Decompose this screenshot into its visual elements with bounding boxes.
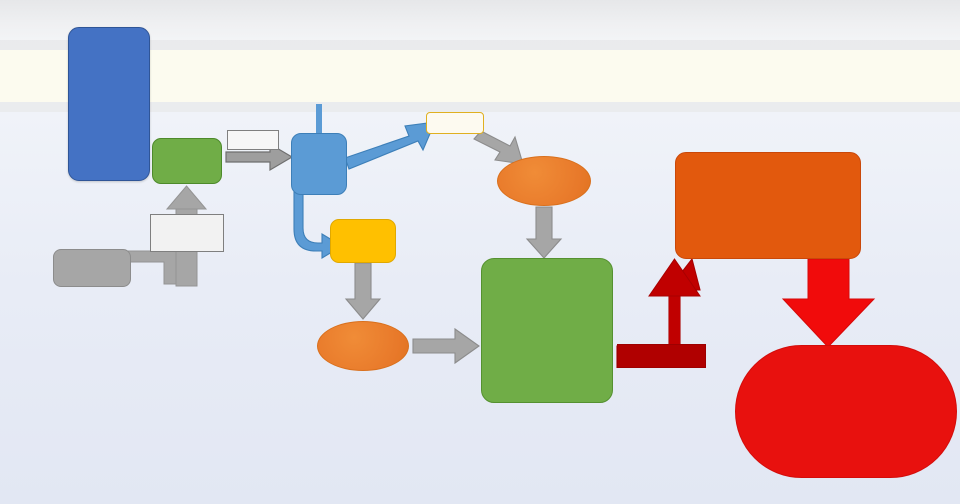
calcium-to-outcomes-arrow	[413, 329, 479, 363]
pathway-diagram-canvas	[0, 0, 960, 504]
node-regulatory-factors[interactable]	[150, 214, 224, 252]
node-pkc[interactable]	[497, 156, 591, 206]
dag-to-pkc-arrow	[474, 131, 523, 164]
node-rtk-complex[interactable]	[68, 27, 150, 181]
node-cellular-outcomes[interactable]	[481, 258, 613, 403]
node-tumor-growth-and-cancer[interactable]	[735, 345, 957, 478]
node-pik3[interactable]	[53, 249, 131, 287]
ip3-to-calcium-arrow	[346, 263, 380, 319]
pip2-to-dag-arrow	[345, 122, 435, 169]
label-mutations	[617, 344, 706, 368]
node-dag[interactable]	[426, 112, 484, 134]
label-cleaves	[227, 130, 279, 150]
node-pip2[interactable]	[291, 133, 347, 195]
upregulated-to-tumor-arrow	[783, 259, 874, 347]
node-upregulated-phenotypes[interactable]	[675, 152, 861, 259]
node-plcg1[interactable]	[152, 138, 222, 184]
pkc-to-outcomes-arrow	[527, 207, 561, 258]
node-calcium[interactable]	[317, 321, 409, 371]
node-ip3[interactable]	[330, 219, 396, 263]
